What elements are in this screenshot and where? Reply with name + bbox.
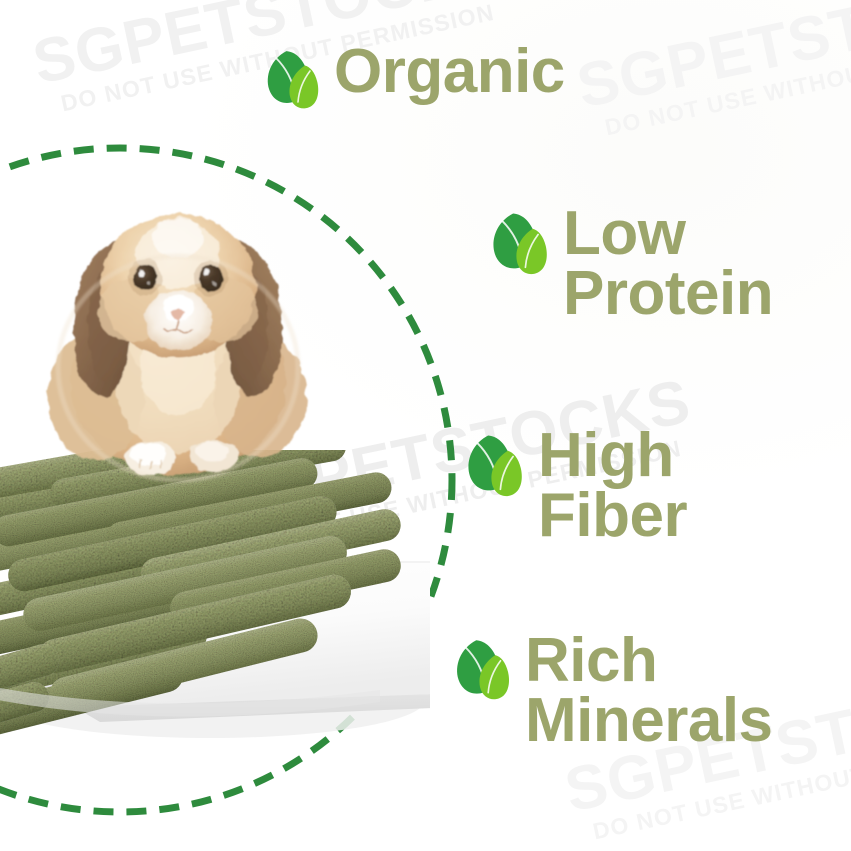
feature-low-protein: Low Protein — [487, 206, 773, 324]
leaf-icon — [487, 206, 549, 280]
rabbit-image — [28, 168, 328, 488]
watermark-sub-text: DO NOT USE WITHOUT PERMISSION — [603, 21, 851, 139]
leaf-icon — [462, 428, 524, 502]
feature-high-fiber: High Fiber — [462, 428, 687, 546]
feature-label-low-protein: Low Protein — [563, 204, 773, 324]
feature-rich-minerals: Rich Minerals — [451, 633, 773, 751]
feature-organic: Organic — [262, 44, 565, 114]
feature-label-rich-minerals: Rich Minerals — [525, 631, 773, 751]
feature-label-organic: Organic — [334, 42, 565, 102]
hay-sticks-on-tray-image — [0, 450, 430, 740]
feature-label-high-fiber: High Fiber — [538, 426, 687, 546]
leaf-icon — [262, 44, 320, 114]
watermark-main-text: SGPETSTOCKS — [572, 0, 851, 119]
watermark: SGPETSTOCKS DO NOT USE WITHOUT PERMISSIO… — [572, 0, 851, 143]
product-feature-poster: SGPETSTOCKS DO NOT USE WITHOUT PERMISSIO… — [0, 0, 851, 851]
leaf-icon — [451, 633, 511, 705]
product-photo — [0, 150, 420, 770]
